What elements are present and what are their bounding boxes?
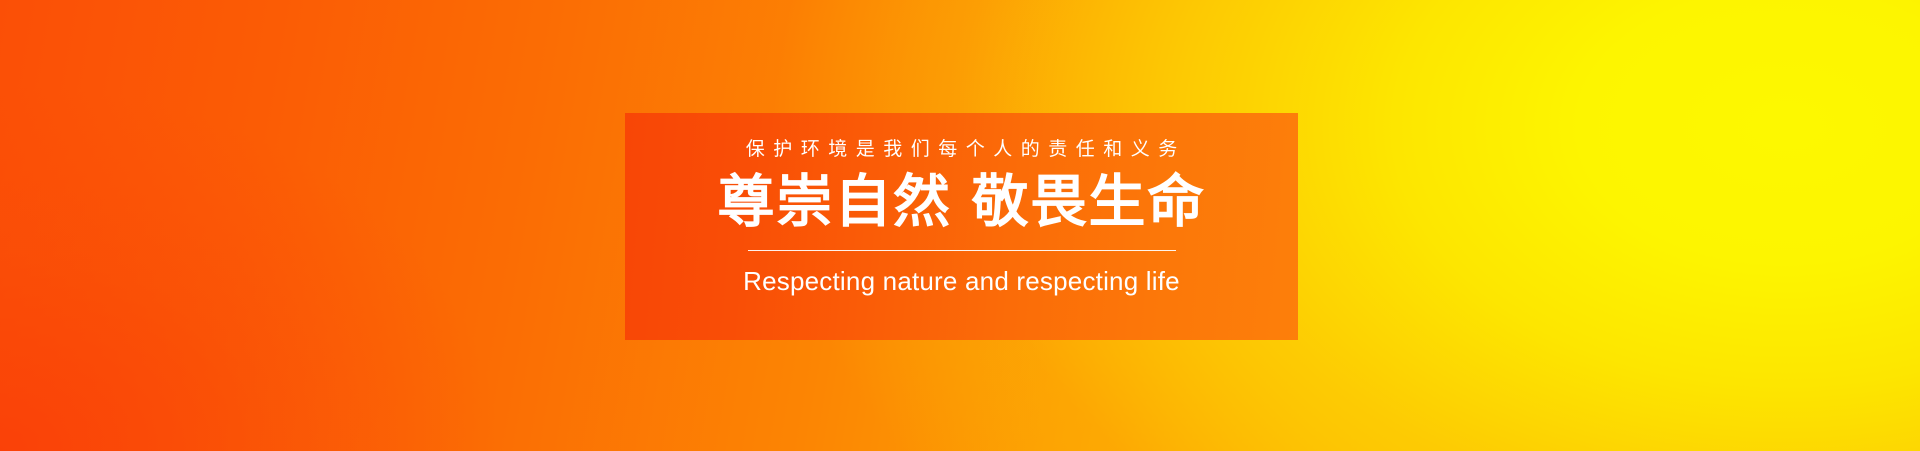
headline-segment-first: 尊崇自然	[718, 170, 952, 234]
headline-chinese: 尊崇自然敬畏生命	[718, 172, 1206, 234]
tagline-chinese: 保护环境是我们每个人的责任和义务	[737, 140, 1186, 161]
banner-canvas: 保护环境是我们每个人的责任和义务 尊崇自然敬畏生命 Respecting nat…	[0, 0, 1920, 451]
subtitle-english: Respecting nature and respecting life	[743, 267, 1180, 297]
divider-rule	[748, 250, 1176, 251]
headline-segment-second: 敬畏生命	[972, 170, 1206, 234]
message-card: 保护环境是我们每个人的责任和义务 尊崇自然敬畏生命 Respecting nat…	[625, 113, 1298, 340]
